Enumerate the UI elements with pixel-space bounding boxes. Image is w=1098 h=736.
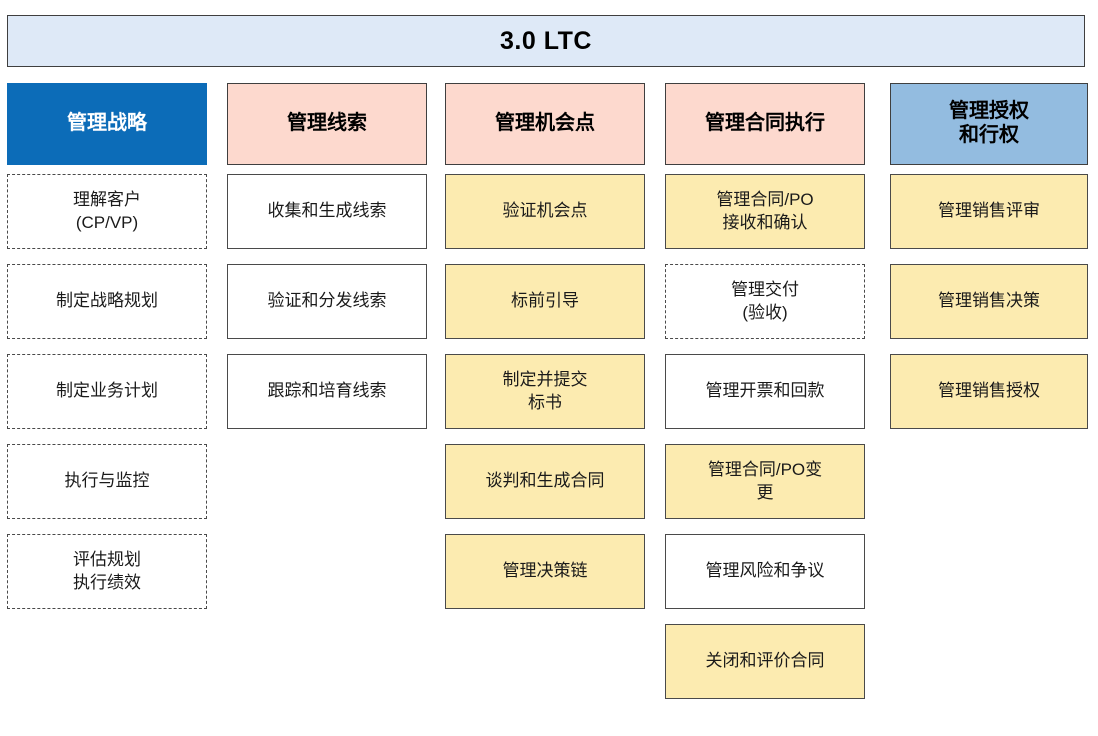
process-cell[interactable]: 跟踪和培育线索	[227, 354, 427, 429]
process-cell[interactable]: 制定并提交 标书	[445, 354, 645, 429]
ltc-process-diagram: 3.0 LTC 管理战略理解客户 (CP/VP)制定战略规划制定业务计划执行与监…	[0, 0, 1098, 736]
column-header-5[interactable]: 管理授权 和行权	[890, 83, 1088, 165]
process-column-1: 管理战略理解客户 (CP/VP)制定战略规划制定业务计划执行与监控评估规划 执行…	[7, 83, 207, 624]
column-cells-3: 验证机会点标前引导制定并提交 标书谈判和生成合同管理决策链	[445, 174, 645, 609]
process-cell[interactable]: 收集和生成线索	[227, 174, 427, 249]
process-cell[interactable]: 管理销售决策	[890, 264, 1088, 339]
process-column-5: 管理授权 和行权管理销售评审管理销售决策管理销售授权	[890, 83, 1090, 444]
column-header-3[interactable]: 管理机会点	[445, 83, 645, 165]
process-cell[interactable]: 管理开票和回款	[665, 354, 865, 429]
process-cell[interactable]: 理解客户 (CP/VP)	[7, 174, 207, 249]
column-header-4[interactable]: 管理合同执行	[665, 83, 865, 165]
process-columns: 管理战略理解客户 (CP/VP)制定战略规划制定业务计划执行与监控评估规划 执行…	[0, 0, 1098, 736]
process-cell[interactable]: 评估规划 执行绩效	[7, 534, 207, 609]
process-cell[interactable]: 制定业务计划	[7, 354, 207, 429]
process-cell[interactable]: 标前引导	[445, 264, 645, 339]
process-column-2: 管理线索收集和生成线索验证和分发线索跟踪和培育线索	[227, 83, 427, 444]
process-cell[interactable]: 管理销售评审	[890, 174, 1088, 249]
column-header-2[interactable]: 管理线索	[227, 83, 427, 165]
process-column-3: 管理机会点验证机会点标前引导制定并提交 标书谈判和生成合同管理决策链	[445, 83, 645, 624]
column-cells-4: 管理合同/PO 接收和确认管理交付 (验收)管理开票和回款管理合同/PO变 更管…	[665, 174, 865, 699]
process-cell[interactable]: 验证机会点	[445, 174, 645, 249]
process-cell[interactable]: 管理合同/PO变 更	[665, 444, 865, 519]
process-cell[interactable]: 管理交付 (验收)	[665, 264, 865, 339]
column-cells-1: 理解客户 (CP/VP)制定战略规划制定业务计划执行与监控评估规划 执行绩效	[7, 174, 207, 609]
process-cell[interactable]: 验证和分发线索	[227, 264, 427, 339]
column-header-1[interactable]: 管理战略	[7, 83, 207, 165]
process-cell[interactable]: 制定战略规划	[7, 264, 207, 339]
process-cell[interactable]: 管理销售授权	[890, 354, 1088, 429]
process-cell[interactable]: 管理决策链	[445, 534, 645, 609]
process-cell[interactable]: 管理风险和争议	[665, 534, 865, 609]
process-cell[interactable]: 关闭和评价合同	[665, 624, 865, 699]
process-cell[interactable]: 执行与监控	[7, 444, 207, 519]
column-cells-2: 收集和生成线索验证和分发线索跟踪和培育线索	[227, 174, 427, 429]
process-column-4: 管理合同执行管理合同/PO 接收和确认管理交付 (验收)管理开票和回款管理合同/…	[665, 83, 865, 714]
column-cells-5: 管理销售评审管理销售决策管理销售授权	[890, 174, 1090, 429]
process-cell[interactable]: 谈判和生成合同	[445, 444, 645, 519]
process-cell[interactable]: 管理合同/PO 接收和确认	[665, 174, 865, 249]
